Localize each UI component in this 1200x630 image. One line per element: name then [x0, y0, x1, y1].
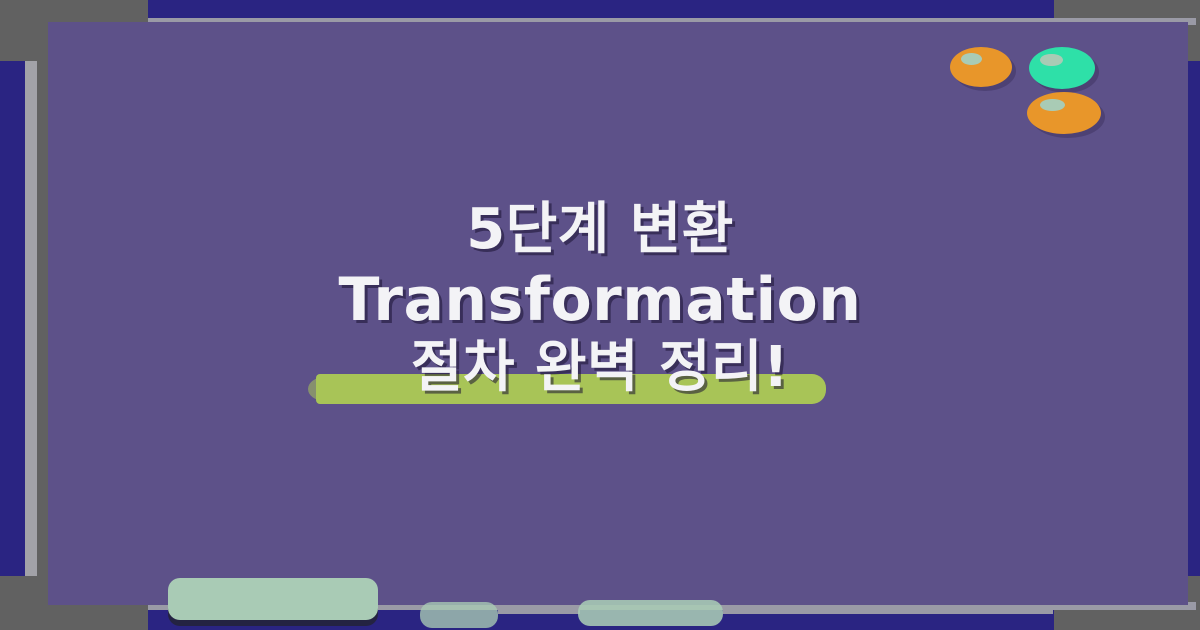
mint-card-large — [168, 578, 378, 620]
blob-highlight-dot — [1040, 54, 1062, 67]
thumbnail-canvas: 5단계 변환 Transformation 절차 완벽 정리! — [0, 0, 1200, 630]
frame-strip-left — [25, 61, 37, 576]
mint-card-small-1 — [420, 602, 498, 628]
teal-blob-icon — [1029, 47, 1095, 89]
mint-shadow-strip-1 — [498, 606, 580, 614]
mint-shadow-strip-2 — [723, 606, 1053, 614]
blob-highlight-dot — [961, 53, 982, 65]
frame-band-top — [148, 0, 1054, 18]
highlighter-stroke — [316, 374, 826, 404]
frame-band-left — [0, 61, 25, 576]
orange-blob-2-icon — [1027, 92, 1101, 134]
orange-blob-1-icon — [950, 47, 1012, 87]
blob-highlight-dot — [1040, 99, 1065, 112]
main-purple-panel — [48, 22, 1188, 605]
mint-card-small-2 — [578, 600, 723, 626]
